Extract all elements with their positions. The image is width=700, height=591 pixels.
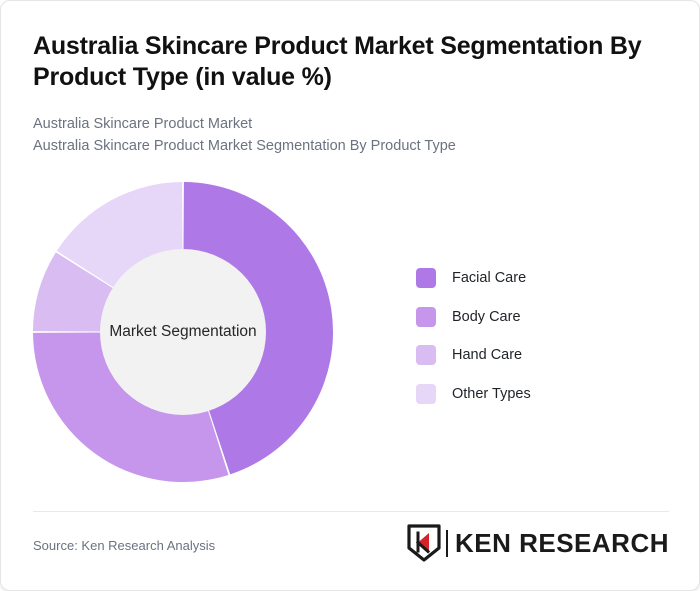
legend-item-facial-care[interactable]: Facial Care bbox=[416, 259, 656, 298]
legend-swatch-icon bbox=[416, 345, 436, 365]
donut-chart: Market Segmentation bbox=[33, 182, 333, 482]
logo-divider bbox=[446, 530, 448, 557]
chart-legend: Facial Care Body Care Hand Care Other Ty… bbox=[416, 259, 656, 413]
legend-swatch-icon bbox=[416, 268, 436, 288]
legend-label: Hand Care bbox=[452, 347, 522, 363]
subtitle-market: Australia Skincare Product Market bbox=[33, 113, 633, 135]
donut-hole bbox=[100, 249, 266, 415]
donut-svg bbox=[33, 182, 333, 482]
legend-item-body-care[interactable]: Body Care bbox=[416, 298, 656, 337]
legend-label: Other Types bbox=[452, 386, 531, 402]
page-title: Australia Skincare Product Market Segmen… bbox=[33, 31, 663, 92]
source-note: Source: Ken Research Analysis bbox=[33, 538, 215, 553]
legend-label: Facial Care bbox=[452, 270, 526, 286]
logo-wordmark: KEN RESEARCH bbox=[455, 530, 669, 556]
legend-item-hand-care[interactable]: Hand Care bbox=[416, 336, 656, 375]
legend-item-other-types[interactable]: Other Types bbox=[416, 375, 656, 414]
chart-area: Market Segmentation Facial Care Body Car… bbox=[1, 167, 700, 507]
legend-label: Body Care bbox=[452, 309, 521, 325]
subtitle-block: Australia Skincare Product Market Austra… bbox=[33, 113, 633, 158]
ken-research-logo: KEN RESEARCH bbox=[407, 523, 669, 563]
legend-swatch-icon bbox=[416, 307, 436, 327]
footer-divider bbox=[33, 511, 669, 512]
chart-card: Australia Skincare Product Market Segmen… bbox=[0, 0, 700, 591]
legend-swatch-icon bbox=[416, 384, 436, 404]
subtitle-segmentation: Australia Skincare Product Market Segmen… bbox=[33, 135, 633, 157]
ken-research-shield-icon bbox=[407, 524, 441, 562]
